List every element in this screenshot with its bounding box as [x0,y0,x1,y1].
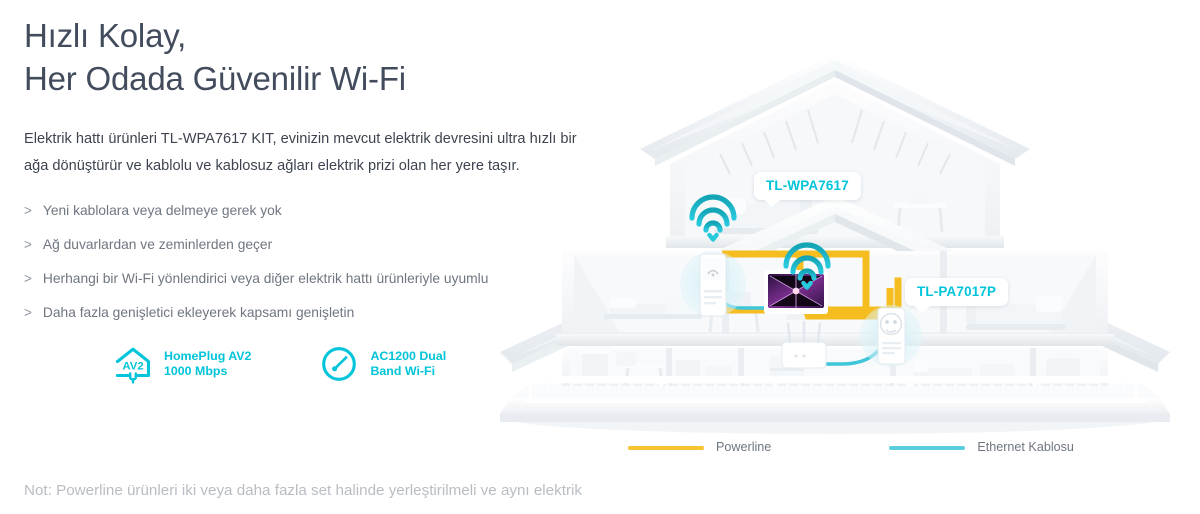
speedometer-icon [319,344,359,384]
chevron-right-icon: > [24,270,32,287]
svg-text:AV2: AV2 [122,360,143,372]
callout-tl-pa7017p: TL-PA7017P [905,278,1008,306]
wireless-router [782,322,826,368]
spec-badge-label: AC1200 Dual Band Wi-Fi [370,349,446,380]
house-svg [470,46,1200,436]
banner-stage: Hızlı Kolay, Her Odada Güvenilir Wi-Fi E… [0,0,1200,514]
passthrough-powerline-adapter [860,305,922,367]
legend-swatch-powerline [628,446,704,450]
powerline-wifi-extender [680,251,746,317]
footnote: Not: Powerline ürünleri iki veya daha fa… [24,479,1174,503]
spec-badge-label: HomePlug AV2 1000 Mbps [164,349,251,380]
homeplug-av2-icon: AV2 [113,344,153,384]
television [764,270,828,320]
chevron-right-icon: > [24,202,32,219]
legend-label: Powerline [716,440,771,455]
spec-badge-homeplug: AV2 HomePlug AV2 1000 Mbps [113,344,251,384]
list-item-label: Herhangi bir Wi-Fi yönlendirici veya diğ… [43,270,489,287]
legend-item-powerline: Powerline [628,440,771,455]
legend-label: Ethernet Kablosu [977,440,1074,455]
spec-badges: AV2 HomePlug AV2 1000 Mbps AC1200 Dual B… [113,344,446,384]
callout-tl-wpa7617: TL-WPA7617 [754,172,861,200]
legend: Powerline Ethernet Kablosu [628,440,1074,455]
list-item-label: Daha fazla genişletici ekleyerek kapsamı… [43,304,354,321]
list-item-label: Ağ duvarlardan ve zeminlerden geçer [43,236,272,253]
spec-badge-wifi: AC1200 Dual Band Wi-Fi [319,344,446,384]
chevron-right-icon: > [24,304,32,321]
house-cutaway-illustration [470,46,1200,436]
legend-swatch-ethernet [889,446,965,450]
chevron-right-icon: > [24,236,32,253]
list-item-label: Yeni kablolara veya delmeye gerek yok [43,202,282,219]
legend-item-ethernet: Ethernet Kablosu [889,440,1074,455]
